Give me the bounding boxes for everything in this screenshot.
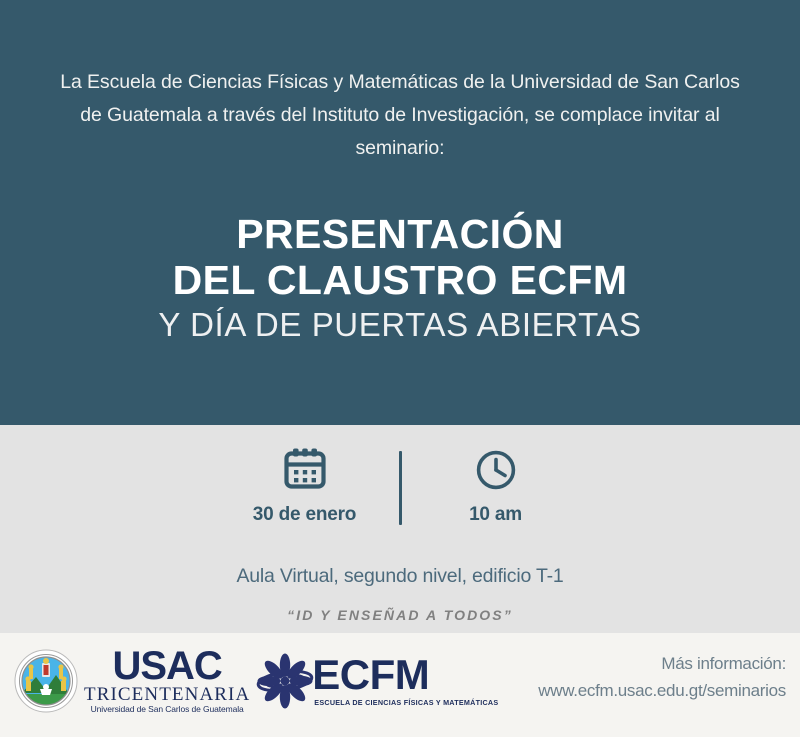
title-subtitle: Y DÍA DE PUERTAS ABIERTAS: [40, 307, 760, 343]
ecfm-atom-icon: [256, 652, 314, 710]
logo-group: USAC TRICENTENARIA Universidad de San Ca…: [14, 647, 498, 715]
usac-wordmark: USAC TRICENTENARIA Universidad de San Ca…: [84, 647, 250, 715]
usac-seal-icon: [14, 649, 78, 713]
ecfm-name: ECFM: [312, 655, 498, 695]
footer-section: USAC TRICENTENARIA Universidad de San Ca…: [0, 633, 800, 737]
usac-tagline: TRICENTENARIA: [84, 685, 250, 704]
calendar-icon: [282, 445, 328, 493]
hero-section: La Escuela de Ciencias Físicas y Matemát…: [0, 0, 800, 425]
event-time: 10 am: [416, 445, 576, 526]
contact-label: Más información:: [538, 650, 786, 677]
usac-logo: USAC TRICENTENARIA Universidad de San Ca…: [14, 647, 250, 715]
title-line-2: DEL CLAUSTRO ECFM: [40, 260, 760, 301]
ecfm-wordmark: ECFM ESCUELA DE CIENCIAS FÍSICAS Y MATEM…: [312, 655, 498, 707]
event-date-label: 30 de enero: [253, 504, 356, 526]
intro-paragraph: La Escuela de Ciencias Físicas y Matemát…: [60, 66, 740, 165]
meta-divider: [399, 451, 402, 525]
details-section: 30 de enero 10 am Aula Virtual, segundo …: [0, 425, 800, 633]
contact-url[interactable]: www.ecfm.usac.edu.gt/seminarios: [538, 677, 786, 704]
ecfm-subtitle: ESCUELA DE CIENCIAS FÍSICAS Y MATEMÁTICA…: [314, 698, 498, 707]
institution-motto: “ID Y ENSEÑAD A TODOS”: [0, 607, 800, 623]
event-time-label: 10 am: [469, 504, 522, 526]
event-venue: Aula Virtual, segundo nivel, edificio T-…: [0, 565, 800, 588]
usac-subtitle: Universidad de San Carlos de Guatemala: [91, 704, 244, 715]
page-title: PRESENTACIÓN DEL CLAUSTRO ECFM Y DÍA DE …: [40, 214, 760, 343]
clock-icon: [474, 445, 518, 493]
ecfm-logo: ECFM ESCUELA DE CIENCIAS FÍSICAS Y MATEM…: [256, 652, 498, 710]
contact-info: Más información: www.ecfm.usac.edu.gt/se…: [538, 650, 786, 704]
usac-name: USAC: [112, 647, 221, 685]
event-meta-row: 30 de enero 10 am: [0, 445, 800, 526]
seminar-poster: La Escuela de Ciencias Físicas y Matemát…: [0, 0, 800, 737]
title-line-1: PRESENTACIÓN: [40, 214, 760, 255]
event-date: 30 de enero: [225, 445, 385, 526]
